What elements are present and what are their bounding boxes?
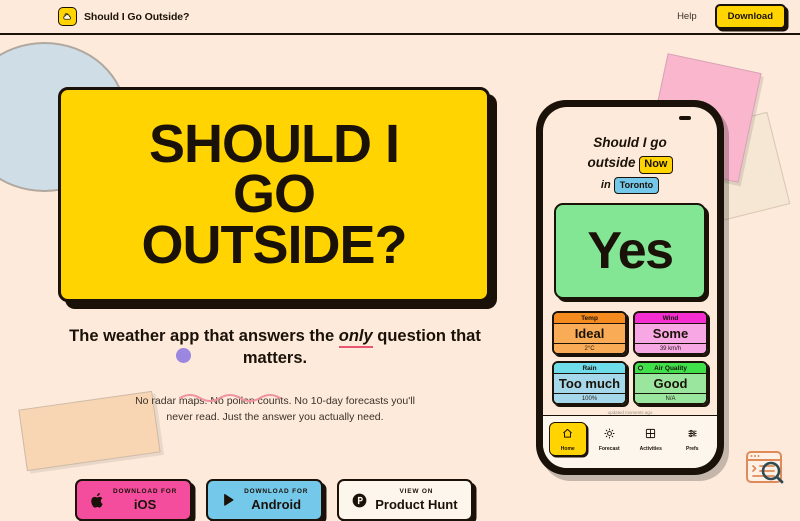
metric-card-rain[interactable]: Rain Too much 100% (552, 361, 627, 405)
home-icon (562, 426, 573, 444)
metric-card-air-quality[interactable]: Air Quality Good N/A (633, 361, 708, 405)
metric-temp-label: Temp (554, 313, 625, 324)
download-ios-button[interactable]: DOWNLOAD FOR iOS (75, 479, 192, 521)
metric-wind-value: Some (635, 324, 706, 343)
metric-rain-value: Too much (554, 374, 625, 393)
metric-air-value: Good (635, 374, 706, 393)
phone-question: Should I go outside Now in Toronto (543, 133, 717, 194)
city-badge[interactable]: Toronto (614, 177, 659, 194)
hero-section: SHOULD I GO OUTSIDE? The weather app tha… (0, 35, 520, 500)
brand-logo[interactable]: Should I Go Outside? (58, 7, 189, 26)
nav-label-forecast: Forecast (599, 446, 620, 452)
phone-question-line-1: Should I go (553, 133, 707, 153)
download-android-button[interactable]: DOWNLOAD FOR Android (206, 479, 323, 521)
hero-title-card: SHOULD I GO OUTSIDE? (58, 87, 490, 302)
nav-item-forecast[interactable]: Forecast (590, 426, 628, 452)
download-ios-label: DOWNLOAD FOR iOS (113, 489, 177, 511)
metric-temp-sub: 2°C (554, 343, 625, 353)
hero-title-line-1: SHOULD I (149, 119, 399, 169)
phone-screen: Should I go outside Now in Toronto Yes T… (543, 107, 717, 468)
decorative-squiggle-underline (178, 392, 298, 402)
sun-icon (604, 426, 615, 444)
metric-wind-sub: 39 km/h (635, 343, 706, 353)
cta-ios-small: DOWNLOAD FOR (113, 489, 177, 496)
metric-rain-sub: 100% (554, 393, 625, 403)
nav-item-prefs[interactable]: Prefs (673, 426, 711, 452)
cta-android-small: DOWNLOAD FOR (244, 489, 308, 496)
play-triangle-icon (221, 492, 236, 508)
header-actions: Help Download (677, 4, 786, 29)
nav-item-home[interactable]: Home (549, 422, 587, 456)
help-link[interactable]: Help (677, 11, 697, 22)
time-badge[interactable]: Now (639, 156, 672, 174)
metric-temp-value: Ideal (554, 324, 625, 343)
site-header: Should I Go Outside? Help Download (0, 0, 800, 35)
apple-icon (90, 492, 105, 509)
metric-card-temp[interactable]: Temp Ideal 2°C (552, 311, 627, 355)
browser-inspect-widget[interactable] (738, 444, 792, 492)
nav-label-activities: Activities (640, 446, 662, 452)
hero-body-line-2: never read. Just the answer you actually… (70, 409, 480, 425)
metric-air-label-text: Air Quality (654, 365, 687, 372)
nav-label-home: Home (561, 446, 575, 452)
browser-inspect-icon (744, 449, 786, 487)
phone-mockup: Should I go outside Now in Toronto Yes T… (536, 100, 724, 475)
phone-question-line-2-wrap: outside Now (553, 153, 707, 174)
air-quality-status-icon (638, 366, 643, 371)
hero-sub-prefix: The weather app that answers the (69, 327, 339, 345)
product-hunt-icon (352, 493, 367, 508)
view-product-hunt-button[interactable]: VIEW ON Product Hunt (337, 479, 472, 521)
download-android-label: DOWNLOAD FOR Android (244, 489, 308, 511)
phone-bottom-nav: Home Forecast Activities (543, 415, 717, 468)
metric-air-label: Air Quality (635, 363, 706, 374)
hero-title-line-2: GO (233, 169, 315, 219)
view-product-hunt-label: VIEW ON Product Hunt (375, 489, 457, 511)
hero-subheading: The weather app that answers the only qu… (60, 325, 490, 370)
hero-title-line-3: OUTSIDE? (141, 220, 406, 270)
grid-icon (645, 426, 656, 444)
metric-wind-label: Wind (635, 313, 706, 324)
phone-in-word: in (601, 179, 611, 191)
answer-card: Yes (554, 203, 706, 299)
cta-ph-small: VIEW ON (375, 489, 457, 496)
nav-label-prefs: Prefs (686, 446, 699, 452)
hero-sub-emphasis: only (339, 327, 373, 348)
phone-question-line-2: outside (587, 155, 635, 170)
answer-text: Yes (587, 221, 672, 281)
metric-air-sub: N/A (635, 393, 706, 403)
sliders-icon (687, 426, 698, 444)
metric-rain-label: Rain (554, 363, 625, 374)
cta-button-row: DOWNLOAD FOR iOS DOWNLOAD FOR Android (75, 479, 473, 521)
download-button[interactable]: Download (715, 4, 786, 29)
metric-grid: Temp Ideal 2°C Wind Some 39 km/h Rain To… (552, 311, 708, 405)
brand-name: Should I Go Outside? (84, 11, 189, 23)
cloud-sun-icon (58, 7, 77, 26)
phone-city-line: in Toronto (553, 177, 707, 194)
metric-card-wind[interactable]: Wind Some 39 km/h (633, 311, 708, 355)
phone-speaker-notch (679, 116, 691, 120)
nav-item-activities[interactable]: Activities (632, 426, 670, 452)
